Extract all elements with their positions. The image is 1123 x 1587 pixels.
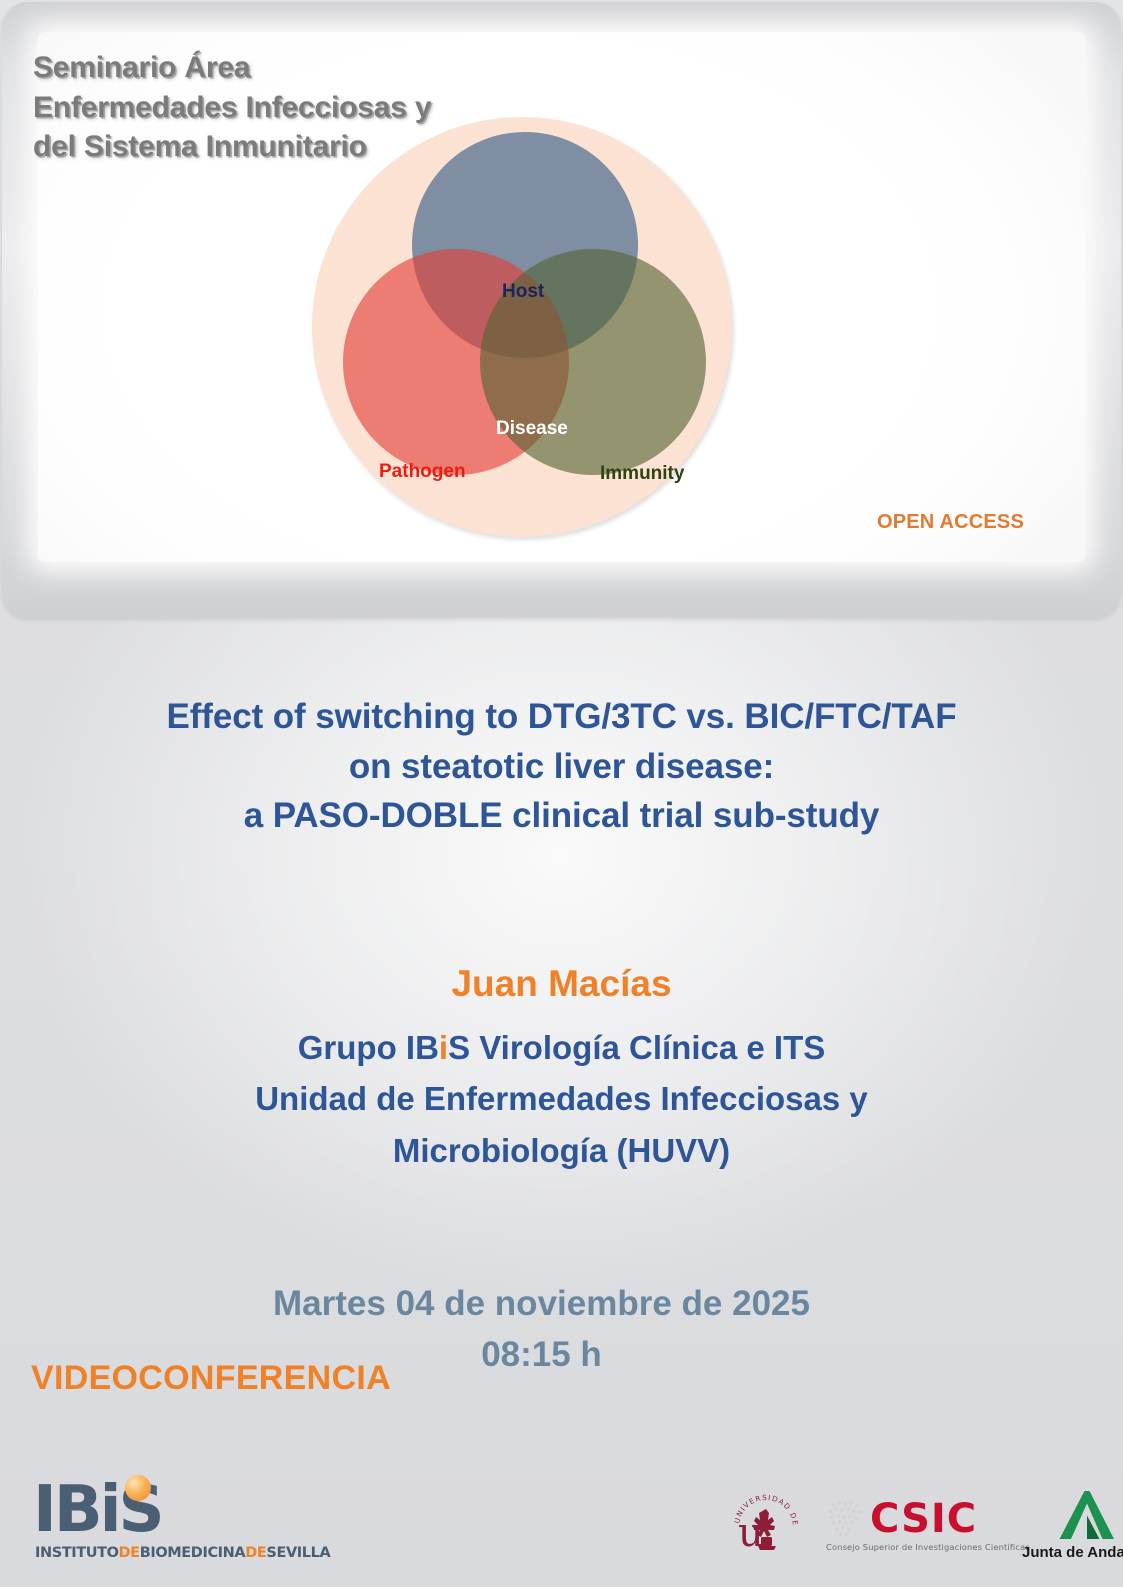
ibis-tagline: INSTITUTODEBIOMEDICINADESEVILLA (35, 1545, 330, 1561)
talk-title: Effect of switching to DTG/3TC vs. BIC/F… (0, 692, 1123, 841)
universidad-sevilla-letter: u (738, 1513, 764, 1553)
affiliation-accent-letter: i (439, 1029, 448, 1066)
venn-label-disease: Disease (496, 418, 568, 440)
csic-tagline: Consejo Superior de Investigaciones Cien… (826, 1542, 1030, 1552)
open-access-badge: OPEN ACCESS (877, 511, 1024, 534)
junta-andalucia-logo: Junta de Andalucía (1022, 1491, 1123, 1567)
institutional-logo-row: UNIVERSIDAD DE SEVILLA u (728, 1489, 1113, 1571)
affiliation-group-suffix: S Virología Clínica e ITS (448, 1029, 825, 1066)
hero-image-card: Seminario Área Enfermedades Infecciosas … (2, 2, 1121, 618)
ibis-logo: IBiS INSTITUTODEBIOMEDICINADESEVILLA (33, 1473, 323, 1568)
ibis-tagline-part-2: BIOMEDICINA (140, 1545, 246, 1561)
venn-label-immunity: Immunity (600, 463, 684, 485)
ibis-tagline-part-4: SEVILLA (266, 1545, 330, 1561)
event-modality: VIDEOCONFERENCIA (31, 1359, 391, 1398)
csic-logo: CSIC Consejo Superior de Investigaciones… (824, 1496, 1010, 1562)
ibis-tagline-part-3: DE (245, 1545, 266, 1561)
affiliation-line-3: Microbiología (HUVV) (0, 1125, 1123, 1176)
ibis-tagline-part-1: DE (119, 1545, 140, 1561)
ibis-dot-icon (125, 1475, 151, 1501)
venn-label-pathogen: Pathogen (379, 461, 466, 483)
ibis-tagline-part-0: INSTITUTO (35, 1545, 119, 1561)
venn-diagram: Host Pathogen Immunity Disease (307, 115, 737, 545)
speaker-name: Juan Macías (0, 963, 1123, 1005)
junta-andalucia-wordmark: Junta de Andalucía (1022, 1544, 1123, 1561)
affiliation-line-1: Grupo IBiS Virología Clínica e ITS (0, 1022, 1123, 1073)
affiliation-line-2: Unidad de Enfermedades Infecciosas y (0, 1073, 1123, 1124)
venn-label-host: Host (502, 281, 544, 303)
universidad-sevilla-logo: UNIVERSIDAD DE SEVILLA u (728, 1489, 804, 1567)
junta-andalucia-mark-icon (1058, 1491, 1114, 1539)
affiliation-group-prefix: Grupo IB (298, 1029, 439, 1066)
speaker-affiliation: Grupo IBiS Virología Clínica e ITS Unida… (0, 1022, 1123, 1176)
csic-seal-icon (824, 1498, 866, 1540)
csic-wordmark: CSIC (870, 1496, 977, 1542)
